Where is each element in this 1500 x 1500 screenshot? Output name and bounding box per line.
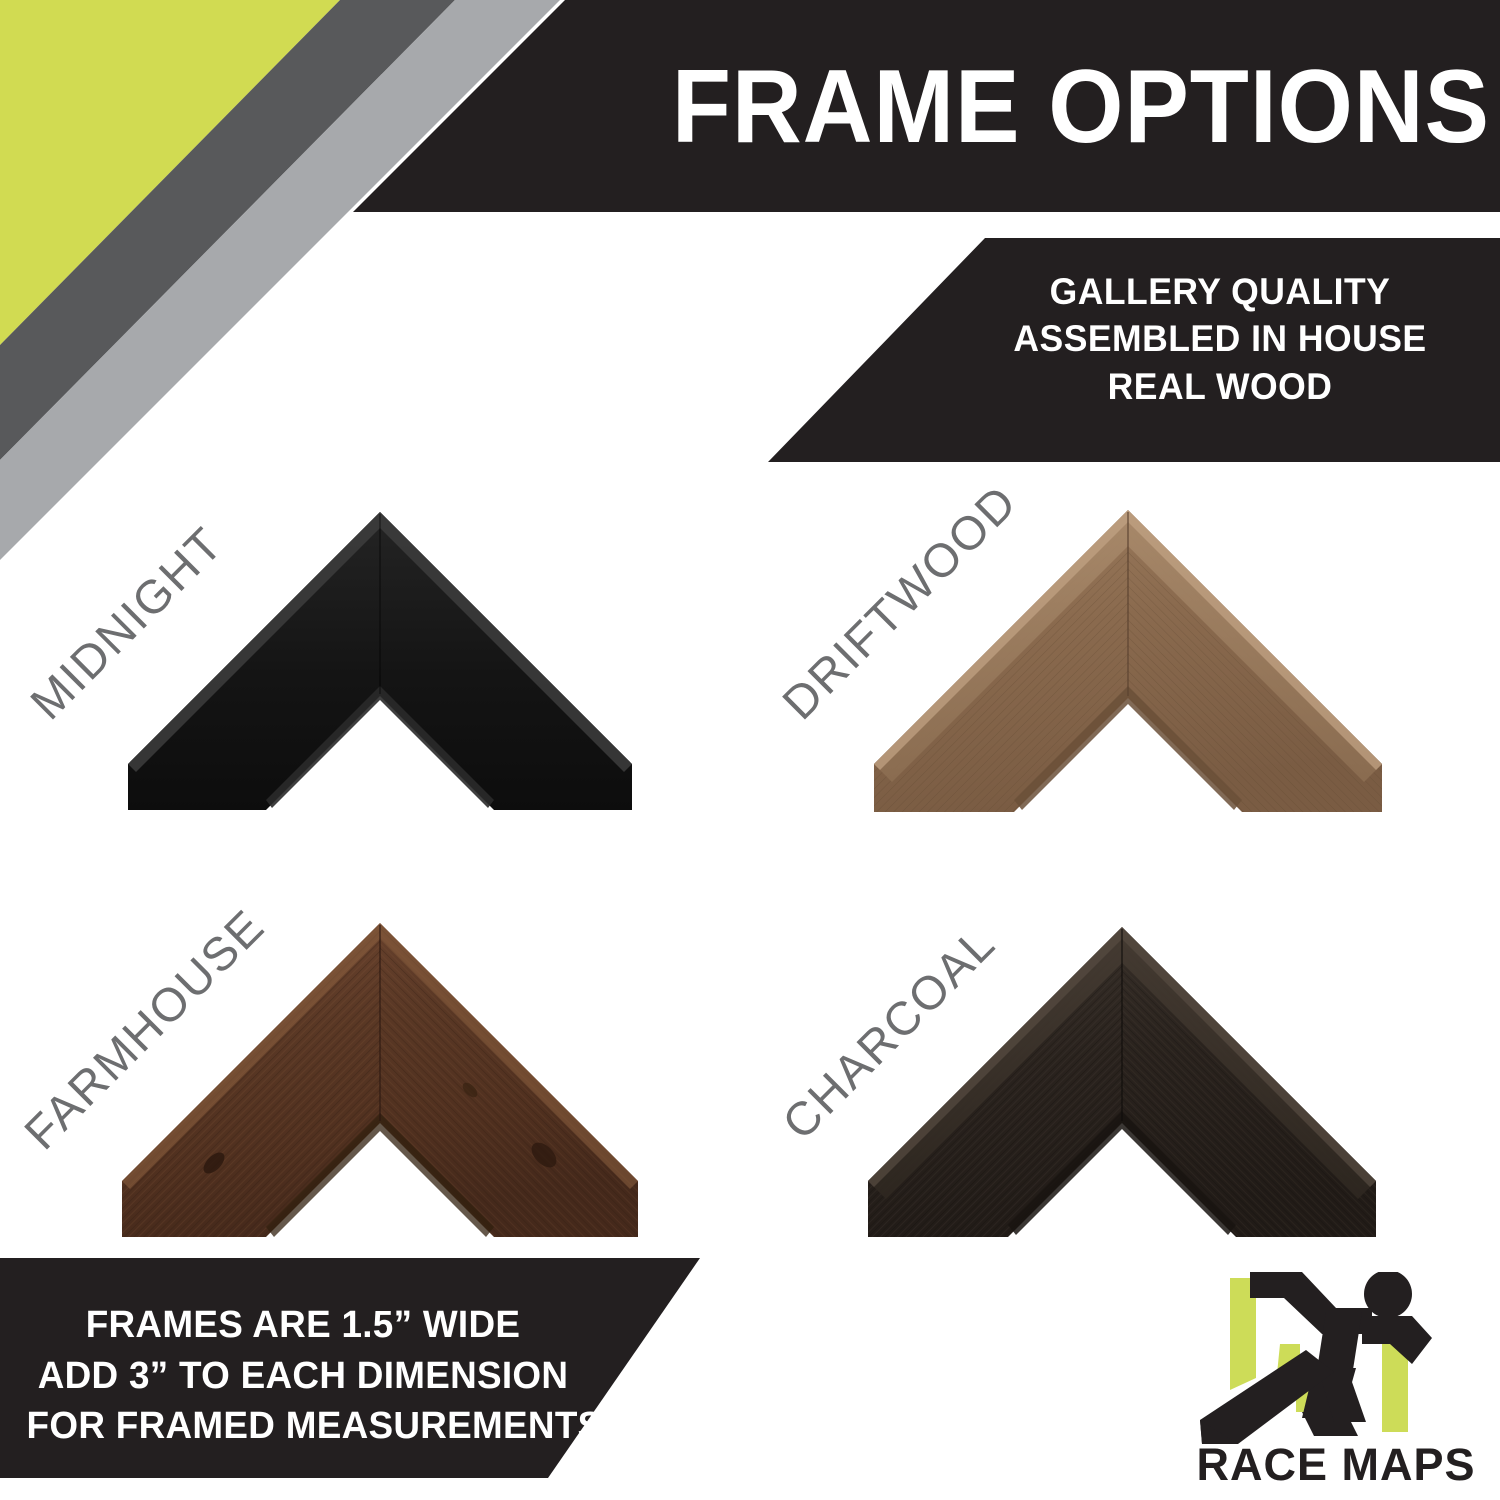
badge-line-1: GALLERY QUALITY: [994, 268, 1445, 315]
frame-sample-midnight[interactable]: MIDNIGHT: [0, 480, 750, 875]
frame-sample-farmhouse[interactable]: FARMHOUSE: [0, 905, 750, 1300]
footer-line-3: FOR FRAMED MEASUREMENTS: [27, 1401, 580, 1452]
footer-line-1: FRAMES ARE 1.5” WIDE: [27, 1300, 580, 1351]
frame-sample-charcoal[interactable]: CHARCOAL: [750, 905, 1500, 1300]
footer-measurement-note: FRAMES ARE 1.5” WIDE ADD 3” TO EACH DIME…: [27, 1300, 580, 1452]
badge-line-2: ASSEMBLED IN HOUSE: [994, 315, 1445, 362]
page-title: FRAME OPTIONS: [625, 44, 1490, 170]
footer-line-2: ADD 3” TO EACH DIMENSION: [27, 1351, 580, 1402]
quality-badge-text: GALLERY QUALITY ASSEMBLED IN HOUSE REAL …: [994, 268, 1445, 410]
race-maps-logo[interactable]: RACE MAPS: [1176, 1272, 1496, 1492]
frame-sample-driftwood[interactable]: DRIFTWOOD: [750, 480, 1500, 875]
badge-line-3: REAL WOOD: [994, 363, 1445, 410]
logo-wordmark: RACE MAPS: [1196, 1439, 1475, 1490]
frame-options-infographic: FRAME OPTIONS GALLERY QUALITY ASSEMBLED …: [0, 0, 1500, 1500]
frame-sample-grid: MIDNIGHT: [0, 480, 1500, 1270]
